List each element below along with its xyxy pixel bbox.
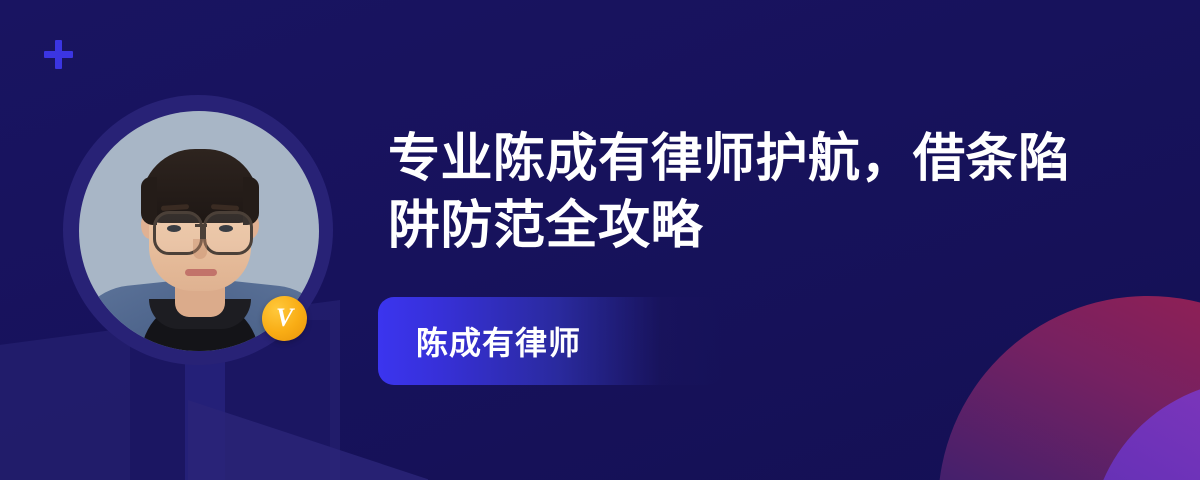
glasses-icon-right-lens bbox=[203, 211, 253, 255]
verified-check-glyph: V bbox=[276, 305, 293, 331]
portrait-nose bbox=[193, 239, 207, 259]
banner-card: V 专业陈成有律师护航，借条陷阱防范全攻略 陈成有律师 bbox=[0, 0, 1200, 480]
portrait-mouth bbox=[185, 269, 217, 276]
page-title: 专业陈成有律师护航，借条陷阱防范全攻略 bbox=[388, 126, 1078, 259]
avatar[interactable]: V bbox=[63, 95, 333, 365]
author-name-badge[interactable]: 陈成有律师 bbox=[378, 297, 723, 385]
plus-icon bbox=[44, 40, 73, 69]
glasses-icon-bridge bbox=[195, 224, 207, 227]
author-name-label: 陈成有律师 bbox=[378, 318, 581, 364]
headline-block: 专业陈成有律师护航，借条陷阱防范全攻略 bbox=[388, 126, 1088, 259]
verified-badge-icon: V bbox=[262, 296, 307, 341]
